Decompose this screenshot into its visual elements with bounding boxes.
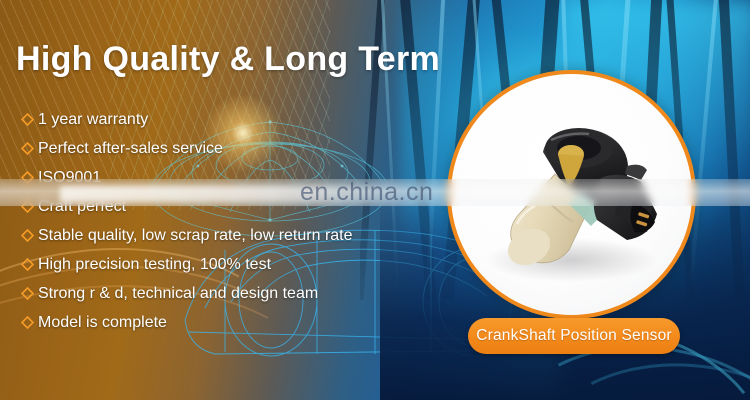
diamond-bullet-icon	[16, 142, 38, 155]
list-item: Strong r & d, technical and design team	[16, 279, 446, 308]
product-caption-label: CrankShaft Position Sensor	[476, 327, 672, 345]
list-item: Model is complete	[16, 308, 446, 337]
feature-label: Strong r & d, technical and design team	[38, 285, 318, 303]
feature-label: Stable quality, low scrap rate, low retu…	[38, 227, 353, 245]
feature-label: 1 year warranty	[38, 111, 148, 129]
product-caption-badge: CrankShaft Position Sensor	[468, 318, 680, 354]
diamond-bullet-icon	[16, 287, 38, 300]
feature-label: Perfect after-sales service	[38, 140, 223, 158]
list-item: 1 year warranty	[16, 105, 446, 134]
list-item: Stable quality, low scrap rate, low retu…	[16, 221, 446, 250]
diamond-bullet-icon	[16, 258, 38, 271]
watermark-text: en.china.cn	[300, 178, 433, 207]
feature-label: Model is complete	[38, 314, 167, 332]
feature-list: 1 year warranty Perfect after-sales serv…	[16, 105, 446, 337]
list-item: High precision testing, 100% test	[16, 250, 446, 279]
list-item: Perfect after-sales service	[16, 134, 446, 163]
diamond-bullet-icon	[16, 113, 38, 126]
diamond-bullet-icon	[16, 316, 38, 329]
product-promo-banner: High Quality & Long Term 1 year warranty…	[0, 0, 750, 400]
diamond-bullet-icon	[16, 229, 38, 242]
feature-label: High precision testing, 100% test	[38, 256, 271, 274]
page-title: High Quality & Long Term	[16, 40, 440, 79]
